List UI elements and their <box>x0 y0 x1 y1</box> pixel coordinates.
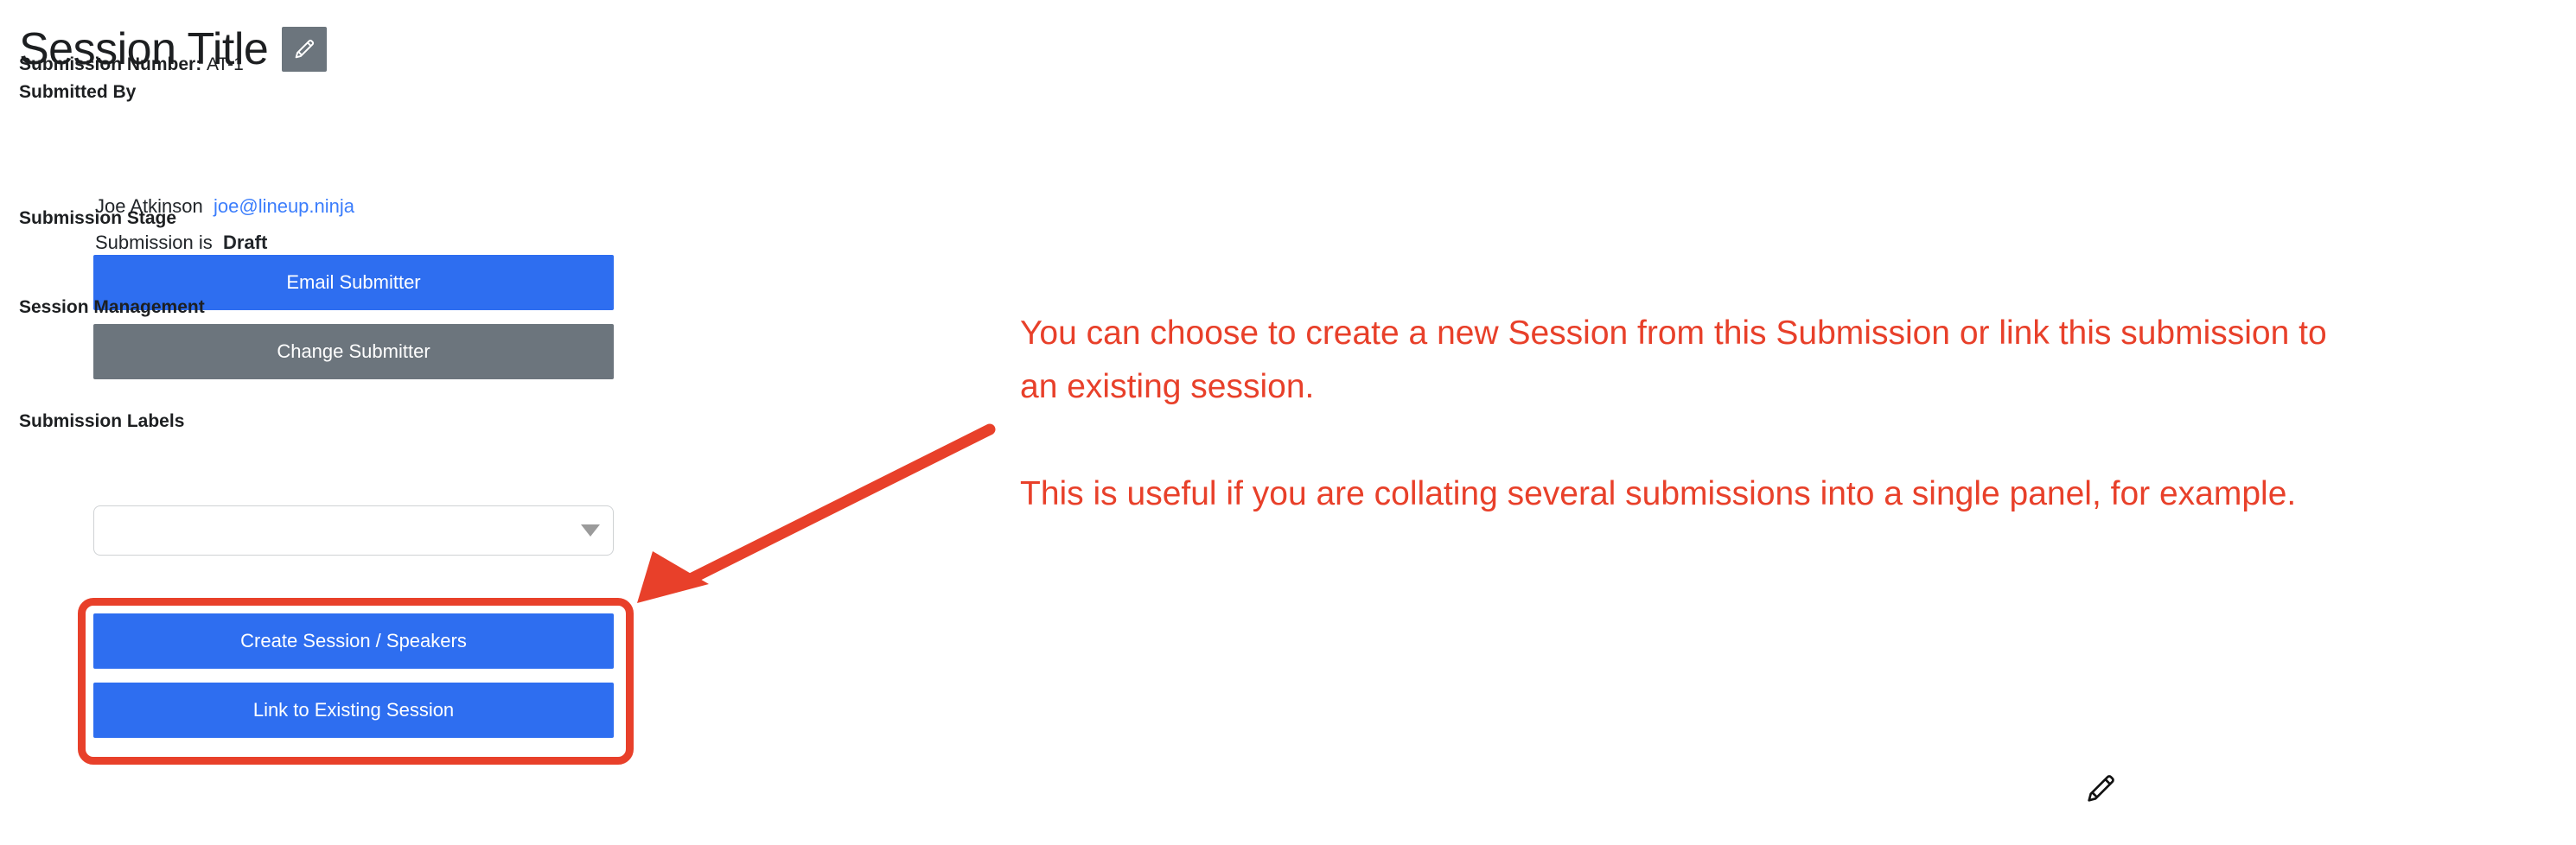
submission-stage-status-value: Draft <box>223 232 267 253</box>
submission-number-value: AT-1 <box>207 54 244 74</box>
submitter-email-link[interactable]: joe@lineup.ninja <box>214 195 354 217</box>
submission-stage-select[interactable] <box>93 505 614 556</box>
submission-stage-status: Submission is Draft <box>95 232 267 254</box>
change-submitter-button[interactable]: Change Submitter <box>93 324 614 379</box>
annotation-paragraph-2: This is useful if you are collating seve… <box>1020 467 2369 521</box>
submission-stage-select-wrapper <box>93 505 614 556</box>
pencil-icon <box>292 37 316 61</box>
annotation-paragraph-1: You can choose to create a new Session f… <box>1020 307 2369 414</box>
submission-number-label-text: Submission Number: <box>19 54 201 74</box>
edit-labels-button[interactable] <box>2083 772 2118 806</box>
submitted-by-label: Submitted By <box>19 81 136 104</box>
link-to-existing-session-button[interactable]: Link to Existing Session <box>93 683 614 738</box>
submission-labels-label: Submission Labels <box>19 410 184 433</box>
pencil-icon <box>2083 772 2118 806</box>
edit-title-button[interactable] <box>282 27 327 72</box>
submission-stage-label: Submission Stage <box>19 207 176 230</box>
arrow-pointing-down-left-icon <box>622 415 1011 613</box>
submission-detail-panel: Session Title Submission Number: AT-1 Su… <box>0 0 657 845</box>
create-session-speakers-button[interactable]: Create Session / Speakers <box>93 613 614 669</box>
submission-stage-status-prefix: Submission is <box>95 232 213 253</box>
session-management-label: Session Management <box>19 296 205 319</box>
annotation-text-block: You can choose to create a new Session f… <box>1020 307 2369 521</box>
submission-number-label: Submission Number: AT-1 <box>19 54 244 76</box>
